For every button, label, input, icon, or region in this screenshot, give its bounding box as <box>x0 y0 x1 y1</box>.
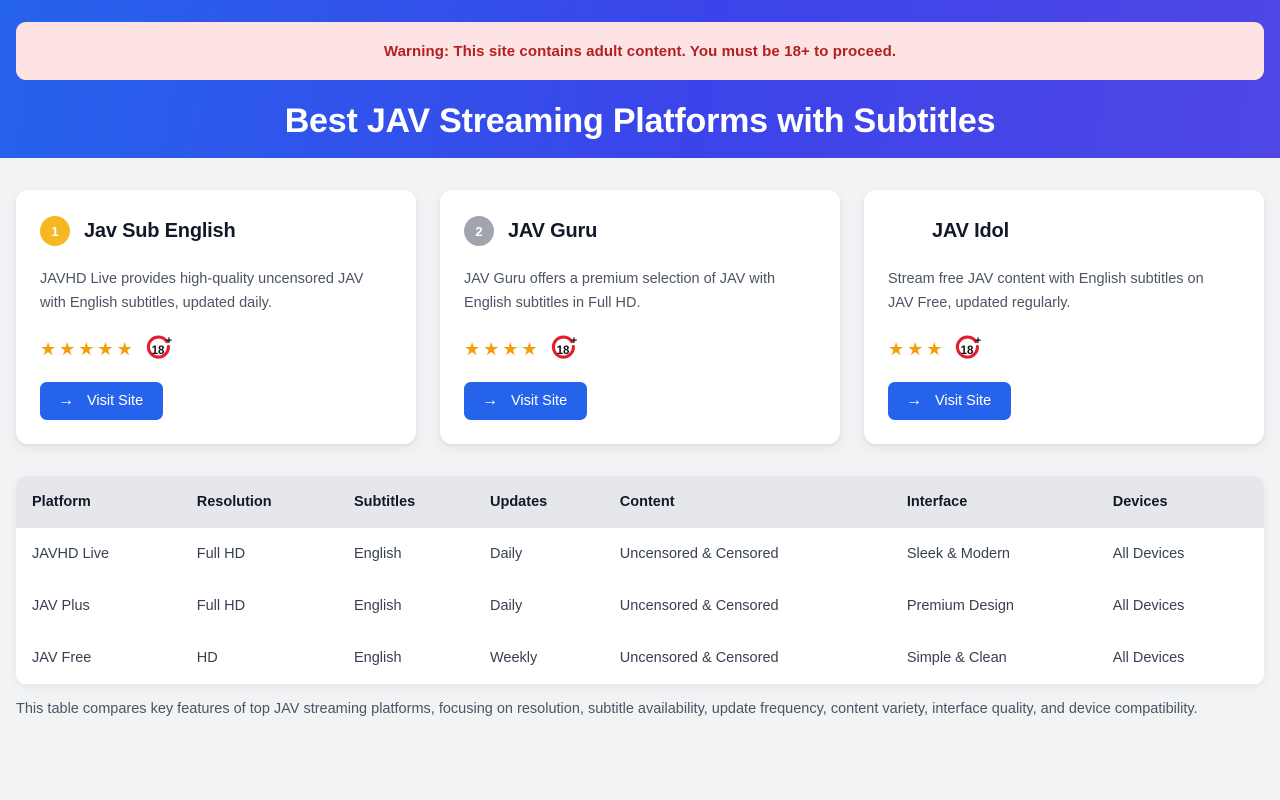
cell-subtitles: English <box>338 632 474 684</box>
warning-text: Warning: This site contains adult conten… <box>384 43 896 60</box>
column-header-content[interactable]: Content <box>604 476 891 528</box>
rank-number: 1 <box>51 224 58 239</box>
visit-site-button[interactable]: → Visit Site <box>40 382 163 420</box>
cell-devices: All Devices <box>1097 632 1264 684</box>
cell-subtitles: English <box>338 528 474 580</box>
visit-site-button[interactable]: → Visit Site <box>888 382 1011 420</box>
arrow-right-icon: → <box>906 393 922 409</box>
column-header-updates[interactable]: Updates <box>474 476 604 528</box>
comparison-table: Platform Resolution Subtitles Updates Co… <box>16 476 1264 684</box>
star-icon: ★ <box>40 340 57 358</box>
cell-interface: Sleek & Modern <box>891 528 1097 580</box>
cell-updates: Daily <box>474 528 604 580</box>
card-description: JAVHD Live provides high-quality uncenso… <box>40 268 370 316</box>
star-icon: ★ <box>502 340 519 358</box>
adult-content-warning-banner: Warning: This site contains adult conten… <box>16 22 1264 80</box>
star-icon: ★ <box>483 340 500 358</box>
card-header: JAV Idol <box>888 214 1240 248</box>
column-header-subtitles[interactable]: Subtitles <box>338 476 474 528</box>
cell-updates: Weekly <box>474 632 604 684</box>
table-header: Platform Resolution Subtitles Updates Co… <box>16 476 1264 528</box>
rank-number: 2 <box>475 224 482 239</box>
column-header-devices[interactable]: Devices <box>1097 476 1264 528</box>
visit-site-label: Visit Site <box>87 393 143 409</box>
svg-text:18: 18 <box>151 345 164 357</box>
star-icon: ★ <box>888 340 905 358</box>
card-meta: ★ ★ ★ ★ ★ 18 + <box>40 334 392 364</box>
table-body: JAVHD Live Full HD English Daily Uncenso… <box>16 528 1264 684</box>
rank-badge: 2 <box>464 216 494 246</box>
card-header: 2 JAV Guru <box>464 214 816 248</box>
comparison-table-container: Platform Resolution Subtitles Updates Co… <box>16 476 1264 684</box>
cell-resolution: Full HD <box>181 580 338 632</box>
svg-text:18: 18 <box>961 345 974 357</box>
cell-content: Uncensored & Censored <box>604 632 891 684</box>
age-18-plus-icon: 18 + <box>953 334 983 364</box>
card-title: Jav Sub English <box>84 220 235 243</box>
card-title: JAV Guru <box>508 220 597 243</box>
cell-platform: JAV Free <box>16 632 181 684</box>
card-meta: ★ ★ ★ 18 + <box>888 334 1240 364</box>
column-header-platform[interactable]: Platform <box>16 476 181 528</box>
cell-resolution: Full HD <box>181 528 338 580</box>
age-18-plus-icon: 18 + <box>549 334 579 364</box>
platform-cards-row: 1 Jav Sub English JAVHD Live provides hi… <box>0 158 1280 444</box>
star-rating: ★ ★ ★ ★ <box>464 340 539 358</box>
cell-platform: JAV Plus <box>16 580 181 632</box>
age-18-plus-icon: 18 + <box>144 334 174 364</box>
table-row: JAV Free HD English Weekly Uncensored & … <box>16 632 1264 684</box>
cell-interface: Simple & Clean <box>891 632 1097 684</box>
page-header: Warning: This site contains adult conten… <box>0 0 1280 158</box>
arrow-right-icon: → <box>58 393 74 409</box>
visit-site-label: Visit Site <box>511 393 567 409</box>
svg-text:18: 18 <box>556 345 569 357</box>
table-caption: This table compares key features of top … <box>16 698 1264 721</box>
cell-platform: JAVHD Live <box>16 528 181 580</box>
table-row: JAV Plus Full HD English Daily Uncensore… <box>16 580 1264 632</box>
card-description: Stream free JAV content with English sub… <box>888 268 1218 316</box>
star-icon: ★ <box>907 340 924 358</box>
star-icon: ★ <box>117 340 134 358</box>
column-header-resolution[interactable]: Resolution <box>181 476 338 528</box>
star-icon: ★ <box>97 340 114 358</box>
platform-card[interactable]: JAV Idol Stream free JAV content with En… <box>864 190 1264 444</box>
svg-text:+: + <box>975 335 981 347</box>
card-header: 1 Jav Sub English <box>40 214 392 248</box>
cell-content: Uncensored & Censored <box>604 528 891 580</box>
cell-devices: All Devices <box>1097 528 1264 580</box>
page-title: Best JAV Streaming Platforms with Subtit… <box>16 102 1264 141</box>
arrow-right-icon: → <box>482 393 498 409</box>
card-meta: ★ ★ ★ ★ 18 + <box>464 334 816 364</box>
star-icon: ★ <box>464 340 481 358</box>
table-header-row: Platform Resolution Subtitles Updates Co… <box>16 476 1264 528</box>
cell-interface: Premium Design <box>891 580 1097 632</box>
cell-content: Uncensored & Censored <box>604 580 891 632</box>
platform-card[interactable]: 1 Jav Sub English JAVHD Live provides hi… <box>16 190 416 444</box>
svg-text:+: + <box>570 335 576 347</box>
column-header-interface[interactable]: Interface <box>891 476 1097 528</box>
star-rating: ★ ★ ★ ★ ★ <box>40 340 134 358</box>
rank-badge <box>888 216 918 246</box>
star-icon: ★ <box>521 340 538 358</box>
cell-resolution: HD <box>181 632 338 684</box>
cell-devices: All Devices <box>1097 580 1264 632</box>
star-icon: ★ <box>926 340 943 358</box>
table-row: JAVHD Live Full HD English Daily Uncenso… <box>16 528 1264 580</box>
cell-updates: Daily <box>474 580 604 632</box>
svg-text:+: + <box>165 335 171 347</box>
star-icon: ★ <box>59 340 76 358</box>
visit-site-button[interactable]: → Visit Site <box>464 382 587 420</box>
platform-card[interactable]: 2 JAV Guru JAV Guru offers a premium sel… <box>440 190 840 444</box>
rank-badge: 1 <box>40 216 70 246</box>
card-description: JAV Guru offers a premium selection of J… <box>464 268 794 316</box>
star-icon: ★ <box>78 340 95 358</box>
card-title: JAV Idol <box>932 220 1009 243</box>
star-rating: ★ ★ ★ <box>888 340 943 358</box>
visit-site-label: Visit Site <box>935 393 991 409</box>
cell-subtitles: English <box>338 580 474 632</box>
